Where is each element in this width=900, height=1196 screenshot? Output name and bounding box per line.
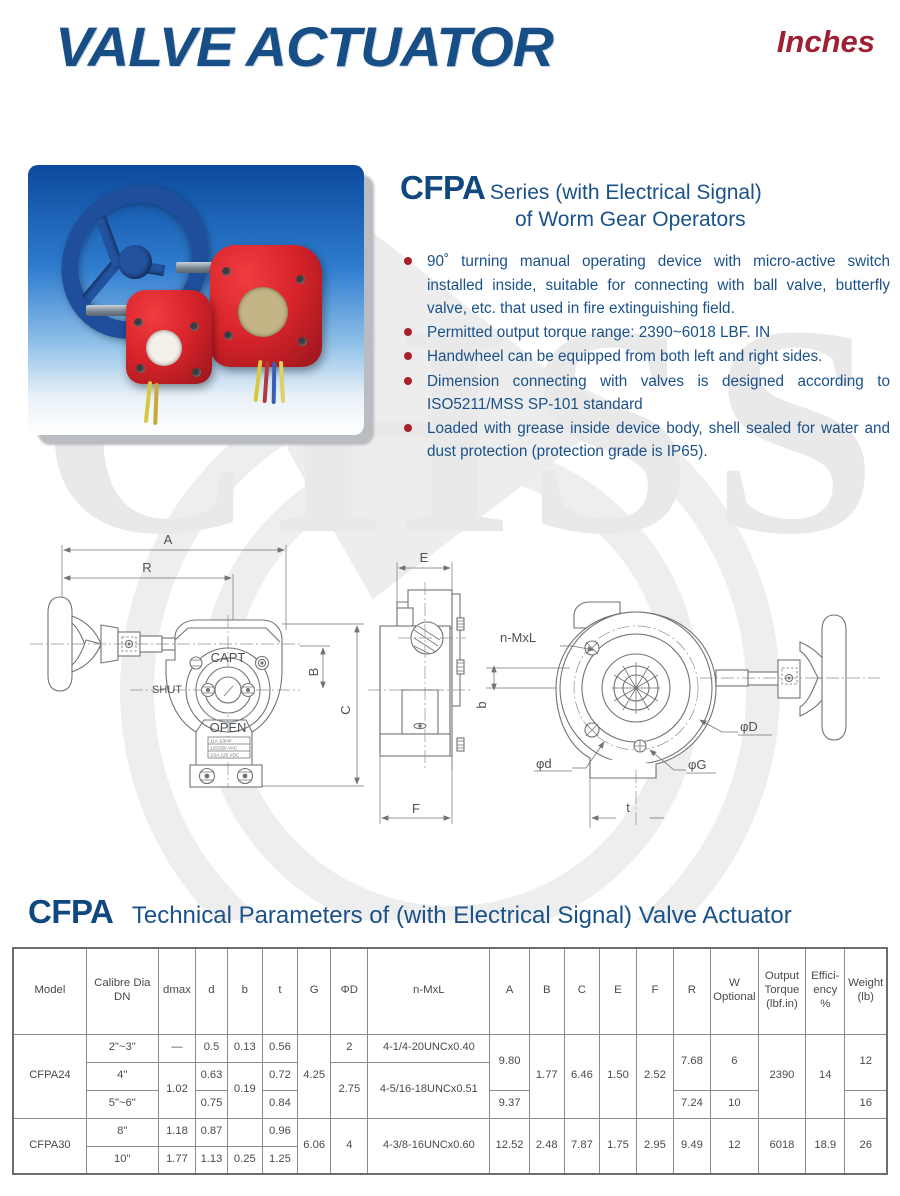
cell-output-torque: 6018 — [758, 1118, 805, 1174]
bullet-dot-icon — [404, 328, 412, 336]
cell-R: 7.24 — [673, 1090, 710, 1118]
feature-text: Permitted output torque range: 2390~6018… — [427, 324, 770, 341]
dim-label-phi-d: φd — [536, 756, 552, 771]
cell-weight: 16 — [845, 1090, 887, 1118]
col-header-W: W Optional — [710, 948, 758, 1034]
cell-model-cfpa30: CFPA30 — [13, 1118, 86, 1174]
signal-wire — [144, 381, 152, 423]
cell-b: 0.13 — [227, 1034, 262, 1062]
series-subtitle-line2: of Worm Gear Operators — [400, 208, 890, 232]
col-header-phiD: ΦD — [331, 948, 368, 1034]
feature-text: 90˚ turning manual operating device with… — [427, 253, 890, 317]
col-header-eff-line3: % — [820, 998, 830, 1010]
bullet-dot-icon — [404, 257, 412, 265]
cell-W: 6 — [710, 1034, 758, 1090]
cell-d: 0.75 — [196, 1090, 228, 1118]
bullet-dot-icon — [404, 377, 412, 385]
cell-B: 1.77 — [529, 1034, 564, 1118]
cell-efficiency: 18.9 — [806, 1118, 845, 1174]
col-header-torque-line2: Torque — [765, 984, 800, 996]
cell-d: 0.63 — [196, 1062, 228, 1090]
feature-text: Handwheel can be equipped from both left… — [427, 348, 822, 365]
cell-R: 9.49 — [673, 1118, 710, 1174]
indicator-dial — [238, 287, 288, 337]
bullet-dot-icon — [404, 424, 412, 432]
intro-section: CFPA Series (with Electrical Signal) of … — [400, 168, 890, 480]
cell-G: 6.06 — [298, 1118, 331, 1174]
signal-wire — [279, 361, 285, 403]
actuator-body-large — [210, 245, 322, 367]
indicator-dial — [146, 330, 182, 366]
product-photo — [28, 165, 364, 435]
cell-b: 0.19 — [227, 1062, 262, 1118]
cell-C: 7.87 — [564, 1118, 599, 1174]
dim-label-F: F — [412, 801, 420, 816]
plate-line-3: 1/2A 125 VDC — [210, 753, 240, 758]
col-header-B: B — [529, 948, 564, 1034]
cell-W: 10 — [710, 1090, 758, 1118]
cell-dn: 4" — [86, 1062, 158, 1090]
handwheel-hub — [118, 245, 152, 279]
dim-label-n-MxL: n-MxL — [500, 630, 536, 645]
dim-label-C: C — [338, 705, 353, 714]
cell-b — [227, 1118, 262, 1146]
col-header-efficiency: Effici- ency % — [806, 948, 845, 1034]
feature-text: Loaded with grease inside device body, s… — [427, 420, 890, 460]
drawing-text-capt: CAPT — [211, 650, 246, 665]
feature-item: 90˚ turning manual operating device with… — [400, 250, 890, 320]
drawing-right-view: b n-MxL φd φD φG t — [474, 602, 880, 828]
cell-W: 12 — [710, 1118, 758, 1174]
dim-label-E: E — [420, 550, 429, 565]
cell-t: 0.84 — [262, 1090, 297, 1118]
cell-B: 2.48 — [529, 1118, 564, 1174]
col-header-d: d — [196, 948, 228, 1034]
series-brand: CFPA — [400, 169, 485, 206]
cell-E: 1.75 — [599, 1118, 636, 1174]
col-header-W-line2: Optional — [713, 991, 755, 1003]
feature-item: Loaded with grease inside device body, s… — [400, 417, 890, 464]
col-header-eff-line1: Effici- — [811, 970, 839, 982]
cell-output-torque: 2390 — [758, 1034, 805, 1118]
cell-dn: 2"~3" — [86, 1034, 158, 1062]
plate-line-1: 11A 1/3HP — [210, 739, 232, 744]
cell-phiD: 2.75 — [331, 1062, 368, 1118]
section-description: Technical Parameters of (with Electrical… — [132, 902, 792, 929]
cell-C: 6.46 — [564, 1034, 599, 1118]
col-header-calibre: Calibre Dia DN — [86, 948, 158, 1034]
feature-item: Handwheel can be equipped from both left… — [400, 345, 890, 368]
feature-list: 90˚ turning manual operating device with… — [400, 250, 890, 463]
col-header-E: E — [599, 948, 636, 1034]
col-header-A: A — [490, 948, 529, 1034]
col-header-weight-line1: Weight — [848, 977, 883, 989]
col-header-model: Model — [13, 948, 86, 1034]
dim-label-R: R — [142, 560, 151, 575]
col-header-weight: Weight (lb) — [845, 948, 887, 1034]
cell-A: 9.80 — [490, 1034, 529, 1090]
drawing-middle-view: E F — [368, 550, 470, 824]
technical-drawings: .ln{fill:none;stroke:#6f7477;stroke-widt… — [0, 520, 900, 890]
cell-weight: 26 — [845, 1118, 887, 1174]
cell-F: 2.95 — [636, 1118, 673, 1174]
dim-label-B: B — [306, 668, 321, 677]
cell-t: 0.56 — [262, 1034, 297, 1062]
product-photo-block — [28, 165, 368, 440]
cell-t: 0.72 — [262, 1062, 297, 1090]
col-header-calibre-line2: DN — [114, 991, 130, 1003]
col-header-t: t — [262, 948, 297, 1034]
cell-nmxl: 4-3/8-16UNCx0.60 — [368, 1118, 490, 1174]
cell-t: 1.25 — [262, 1146, 297, 1174]
cell-dmax: 1.02 — [158, 1062, 196, 1118]
dim-label-phi-D: φD — [740, 719, 758, 734]
units-label: Inches — [777, 24, 875, 60]
series-subtitle-line1: Series (with Electrical Signal) — [490, 181, 762, 204]
cell-dn: 8" — [86, 1118, 158, 1146]
signal-wire — [272, 362, 277, 404]
cell-model-cfpa24: CFPA24 — [13, 1034, 86, 1118]
cell-nmxl: 4-5/16-18UNCx0.51 — [368, 1062, 490, 1118]
col-header-R: R — [673, 948, 710, 1034]
cell-dn: 10" — [86, 1146, 158, 1174]
col-header-G: G — [298, 948, 331, 1034]
drawing-left-view: A R — [30, 532, 364, 788]
dim-label-A: A — [164, 532, 173, 547]
cell-G: 4.25 — [298, 1034, 331, 1118]
signal-wire — [153, 383, 158, 425]
col-header-calibre-line1: Calibre Dia — [94, 977, 150, 989]
cell-d: 1.13 — [196, 1146, 228, 1174]
feature-item: Permitted output torque range: 2390~6018… — [400, 321, 890, 344]
table-header-row: Model Calibre Dia DN dmax d b t G ΦD n-M… — [13, 948, 887, 1034]
cell-phiD: 4 — [331, 1118, 368, 1174]
col-header-eff-line2: ency — [813, 984, 837, 996]
section-brand: CFPA — [28, 893, 113, 930]
col-header-torque-line3: (lbf.in) — [766, 998, 798, 1010]
dim-label-phi-G: φG — [688, 757, 707, 772]
col-header-nmxl: n-MxL — [368, 948, 490, 1034]
plate-line-2: 125/250 VAC — [210, 746, 238, 751]
cell-d: 0.5 — [196, 1034, 228, 1062]
cell-phiD: 2 — [331, 1034, 368, 1062]
cell-E: 1.50 — [599, 1034, 636, 1118]
actuator-body-small — [126, 290, 212, 384]
page-header: VALVE ACTUATOR Inches — [0, 0, 900, 92]
drawing-text-shut: SHUT — [152, 684, 182, 696]
cell-dn: 5"~6" — [86, 1090, 158, 1118]
cell-R: 7.68 — [673, 1034, 710, 1090]
col-header-b: b — [227, 948, 262, 1034]
cell-dmax: 1.77 — [158, 1146, 196, 1174]
signal-wire — [263, 361, 270, 403]
col-header-F: F — [636, 948, 673, 1034]
section-title: CFPA Technical Parameters of (with Elect… — [28, 893, 792, 931]
bullet-dot-icon — [404, 352, 412, 360]
dim-label-t: t — [626, 800, 630, 815]
col-header-torque-line1: Output — [765, 970, 799, 982]
cell-A: 12.52 — [490, 1118, 529, 1174]
dim-label-b: b — [474, 701, 489, 708]
cell-t: 0.96 — [262, 1118, 297, 1146]
col-header-W-line1: W — [729, 977, 740, 989]
feature-item: Dimension connecting with valves is desi… — [400, 370, 890, 417]
col-header-output-torque: Output Torque (lbf.in) — [758, 948, 805, 1034]
series-heading: CFPA Series (with Electrical Signal) — [400, 168, 890, 208]
cell-nmxl: 4-1/4-20UNCx0.40 — [368, 1034, 490, 1062]
cell-efficiency: 14 — [806, 1034, 845, 1118]
cell-weight: 12 — [845, 1034, 887, 1090]
cell-d: 0.87 — [196, 1118, 228, 1146]
cell-A: 9.37 — [490, 1090, 529, 1118]
table-row: CFPA24 2"~3" — 0.5 0.13 0.56 4.25 2 4-1/… — [13, 1034, 887, 1062]
cell-F: 2.52 — [636, 1034, 673, 1118]
spec-table-wrapper: Model Calibre Dia DN dmax d b t G ΦD n-M… — [12, 947, 888, 1175]
page-title: VALVE ACTUATOR — [55, 14, 553, 79]
col-header-C: C — [564, 948, 599, 1034]
cell-dmax: 1.18 — [158, 1118, 196, 1146]
col-header-dmax: dmax — [158, 948, 196, 1034]
table-row: CFPA30 8" 1.18 0.87 0.96 6.06 4 4-3/8-16… — [13, 1118, 887, 1146]
drawing-text-open: OPEN — [210, 720, 247, 735]
col-header-weight-line2: (lb) — [858, 991, 874, 1003]
cell-dmax: — — [158, 1034, 196, 1062]
cell-b: 0.25 — [227, 1146, 262, 1174]
feature-text: Dimension connecting with valves is desi… — [427, 373, 890, 413]
technical-parameters-table: Model Calibre Dia DN dmax d b t G ΦD n-M… — [12, 947, 888, 1175]
